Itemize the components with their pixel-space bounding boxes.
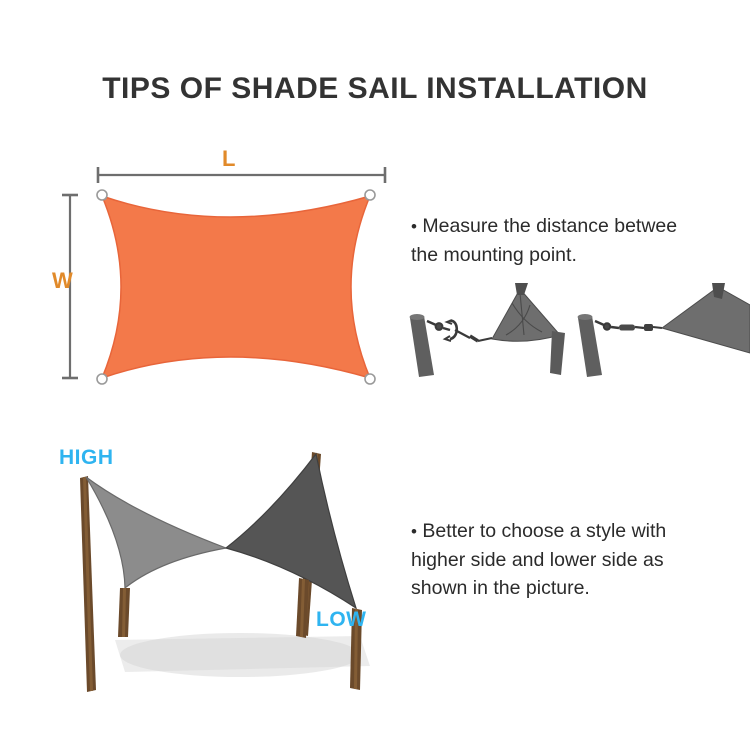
- orange-sail-shape: [102, 196, 370, 378]
- tips-text-block-top: • Measure the distance betwee the mounti…: [411, 156, 750, 281]
- post-icon: [550, 331, 565, 375]
- label-low: LOW: [316, 608, 366, 632]
- tip-item: • Measure the distance betwee the mounti…: [411, 212, 750, 269]
- shade-sail-light: [86, 477, 226, 588]
- hardware-fixing-illustrations: [400, 283, 750, 378]
- turnbuckle-hardware-icon: [427, 320, 492, 341]
- dimension-label-length: L: [222, 146, 235, 172]
- hardware-turnbuckle-right: [578, 283, 750, 377]
- infographic-page: TIPS OF SHADE SAIL INSTALLATION L W • Me: [0, 0, 750, 750]
- dimension-label-width: W: [52, 268, 73, 294]
- label-high: HIGH: [59, 446, 114, 470]
- tip-text: Measure the distance betwee the mounting…: [411, 215, 677, 266]
- post-icon: [515, 283, 528, 295]
- tip-item: • Better to choose a style with higher s…: [411, 517, 750, 602]
- ground-shadow-band: [115, 636, 370, 672]
- shade-sail-dark: [226, 454, 356, 608]
- page-title: TIPS OF SHADE SAIL INSTALLATION: [0, 72, 750, 106]
- dimension-line-length: [98, 167, 385, 183]
- tips-text-block-bottom: • Better to choose a style with higher s…: [411, 461, 750, 651]
- tip-text: Better to choose a style with higher sid…: [411, 520, 666, 599]
- turnbuckle-hardware-icon: [595, 321, 662, 331]
- inclination-diagram: [40, 440, 410, 695]
- hardware-turnbuckle-left: [410, 283, 565, 377]
- sail-corner-shape: [662, 287, 750, 353]
- shade-sail-dimension-diagram: [40, 140, 410, 410]
